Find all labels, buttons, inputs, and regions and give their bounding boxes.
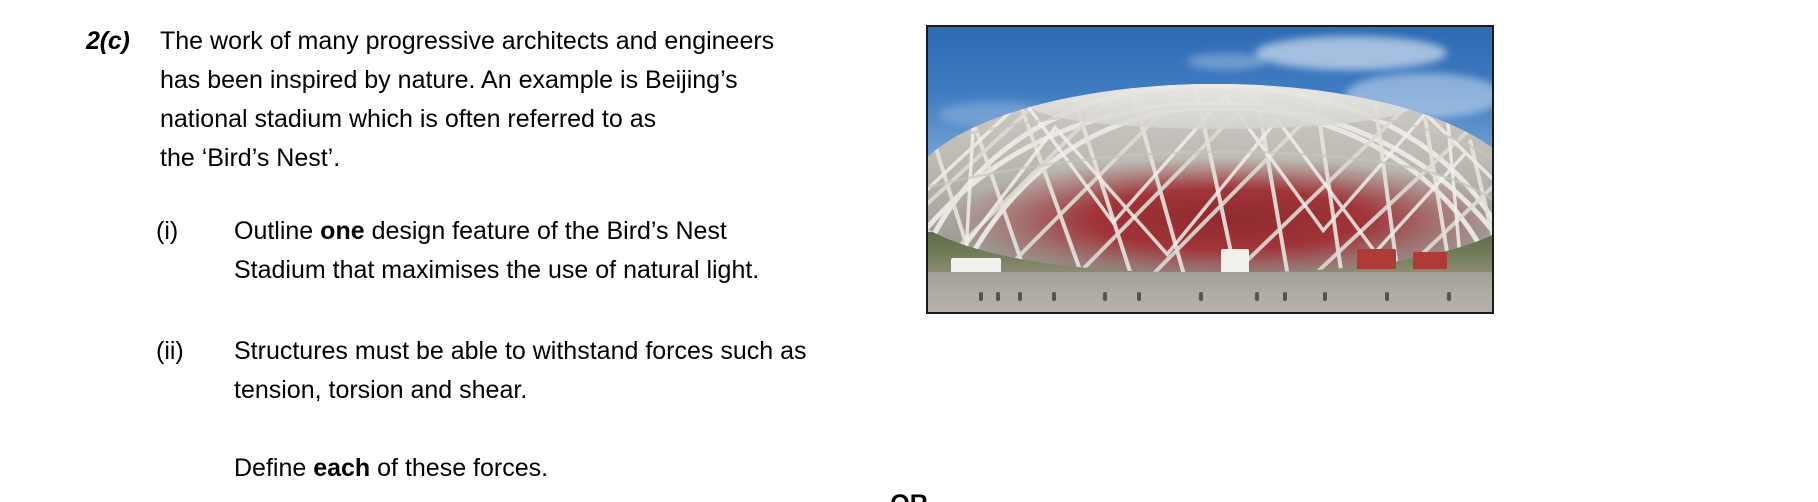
text-run: Stadium that maximises the use of natura… bbox=[234, 256, 759, 284]
subpart-i-line-1: Outline one design feature of the Bird’s… bbox=[234, 212, 916, 251]
crowd-figure bbox=[1103, 292, 1107, 301]
question-stem-row: 2(c) The work of many progressive archit… bbox=[86, 22, 916, 178]
white-kiosk bbox=[951, 258, 1002, 272]
subpart-ii-line-3: Define each of these forces. bbox=[234, 449, 916, 488]
red-kiosk bbox=[1357, 249, 1396, 269]
paragraph-gap bbox=[234, 410, 916, 449]
question-stem: The work of many progressive architects … bbox=[160, 22, 916, 178]
stadium-photo-canvas bbox=[928, 27, 1492, 312]
plaza-ground bbox=[928, 266, 1492, 312]
stem-line: has been inspired by nature. An example … bbox=[160, 61, 916, 100]
subpart-ii-line-1: Structures must be able to withstand for… bbox=[234, 332, 916, 371]
text-run: tension, torsion and shear. bbox=[234, 376, 527, 404]
crowd-figure bbox=[1137, 292, 1141, 301]
stadium-photo bbox=[926, 25, 1494, 314]
crowd-figure bbox=[1052, 292, 1056, 301]
crowd-figure bbox=[996, 292, 1000, 301]
stem-line: The work of many progressive architects … bbox=[160, 22, 916, 61]
crowd-figure bbox=[1283, 292, 1287, 301]
cloud-shape bbox=[1255, 36, 1447, 70]
white-kiosk bbox=[1221, 249, 1249, 272]
cloud-shape bbox=[1187, 53, 1266, 70]
crowd-figure bbox=[1199, 292, 1203, 301]
emphasis-one: one bbox=[320, 217, 364, 245]
crowd-figure bbox=[1018, 292, 1022, 301]
subpart-ii: (ii) Structures must be able to withstan… bbox=[156, 332, 916, 488]
subpart-i: (i) Outline one design feature of the Bi… bbox=[156, 212, 916, 290]
question-block: 2(c) The work of many progressive archit… bbox=[86, 22, 916, 488]
emphasis-each: each bbox=[313, 454, 370, 482]
crowd-figure bbox=[1447, 292, 1451, 301]
subpart-i-text: Outline one design feature of the Bird’s… bbox=[234, 212, 916, 290]
red-kiosk bbox=[1413, 252, 1447, 269]
subpart-ii-line-2: tension, torsion and shear. bbox=[234, 371, 916, 410]
text-run: Define bbox=[234, 454, 313, 482]
crowd-figure bbox=[1323, 292, 1327, 301]
subpart-i-marker: (i) bbox=[156, 212, 234, 251]
bottom-cut-text: OR bbox=[0, 489, 1818, 502]
subpart-i-line-2: Stadium that maximises the use of natura… bbox=[234, 251, 916, 290]
text-run: design feature of the Bird’s Nest bbox=[365, 217, 727, 245]
stem-line: national stadium which is often referred… bbox=[160, 100, 916, 139]
subpart-ii-marker: (ii) bbox=[156, 332, 234, 371]
text-run: of these forces. bbox=[370, 454, 548, 482]
text-run: Structures must be able to withstand for… bbox=[234, 337, 807, 365]
text-run: Outline bbox=[234, 217, 320, 245]
question-number: 2(c) bbox=[86, 22, 160, 61]
subpart-ii-text: Structures must be able to withstand for… bbox=[234, 332, 916, 488]
stadium-lattice-shell bbox=[928, 84, 1492, 272]
exam-question-page: 2(c) The work of many progressive archit… bbox=[0, 0, 1818, 502]
stem-line: the ‘Bird’s Nest’. bbox=[160, 139, 916, 178]
crowd-figure bbox=[1385, 292, 1389, 301]
crowd-figure bbox=[1255, 292, 1259, 301]
crowd-figure bbox=[979, 292, 983, 301]
